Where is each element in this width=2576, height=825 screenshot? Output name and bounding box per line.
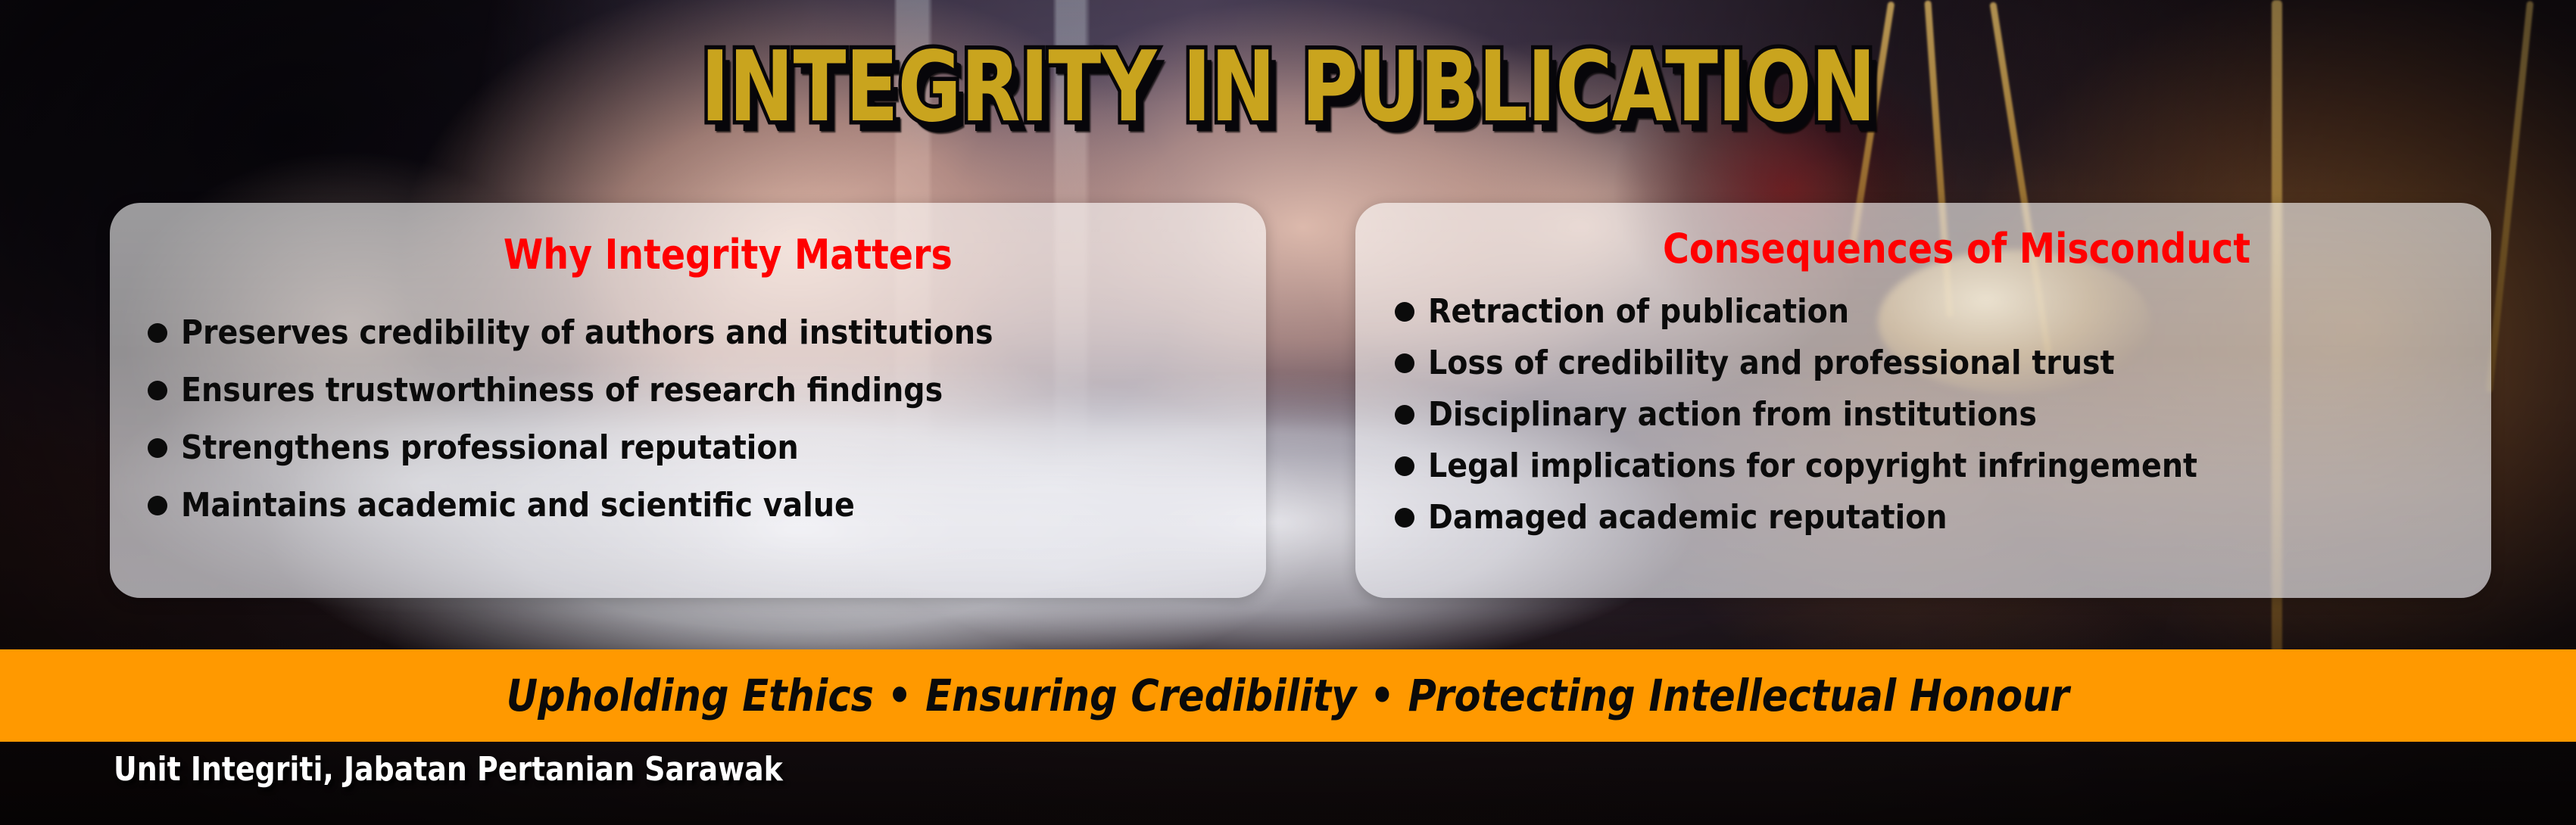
list-item: Disciplinary action from institutions [1395, 389, 2491, 441]
list-item: Damaged academic reputation [1395, 492, 2491, 543]
list-item-label: Disciplinary action from institutions [1428, 398, 2037, 431]
panel-right-bullet-list: Retraction of publication Loss of credib… [1355, 286, 2491, 543]
integrity-in-publication-banner: INTEGRITY IN PUBLICATION Why Integrity M… [0, 0, 2576, 825]
list-item-label: Damaged academic reputation [1428, 501, 1948, 534]
list-item-label: Loss of credibility and professional tru… [1428, 347, 2115, 380]
tagline-bar: Upholding Ethics • Ensuring Credibility … [0, 649, 2576, 742]
list-item-label: Legal implications for copyright infring… [1428, 450, 2197, 483]
list-item-label: Preserves credibility of authors and ins… [181, 316, 993, 350]
list-item: Loss of credibility and professional tru… [1395, 338, 2491, 389]
scale-chain-icon [2486, 1, 2534, 393]
bullet-dot-icon [1395, 302, 1414, 322]
bullet-dot-icon [148, 496, 167, 515]
page-title: INTEGRITY IN PUBLICATION [257, 39, 2319, 136]
list-item: Legal implications for copyright infring… [1395, 441, 2491, 492]
panel-consequences-of-misconduct: Consequences of Misconduct Retraction of… [1355, 203, 2491, 598]
list-item: Preserves credibility of authors and ins… [148, 304, 1266, 362]
bullet-dot-icon [148, 438, 167, 458]
list-item-label: Retraction of publication [1428, 295, 1849, 328]
list-item-label: Strengthens professional reputation [181, 431, 799, 465]
footer-credit: Unit Integriti, Jabatan Pertanian Sarawa… [114, 753, 783, 786]
list-item: Strengthens professional reputation [148, 419, 1266, 477]
bullet-dot-icon [1395, 353, 1414, 373]
bullet-dot-icon [1395, 405, 1414, 425]
bullet-dot-icon [148, 381, 167, 400]
list-item: Maintains academic and scientific value [148, 477, 1266, 534]
panel-why-integrity-matters: Why Integrity Matters Preserves credibil… [110, 203, 1266, 598]
tagline-text: Upholding Ethics • Ensuring Credibility … [507, 674, 2069, 718]
panel-left-bullet-list: Preserves credibility of authors and ins… [110, 304, 1266, 534]
bullet-dot-icon [1395, 508, 1414, 528]
panel-right-heading: Consequences of Misconduct [1424, 229, 2423, 269]
list-item-label: Maintains academic and scientific value [181, 489, 855, 522]
list-item: Ensures trustworthiness of research find… [148, 362, 1266, 419]
bullet-dot-icon [1395, 456, 1414, 476]
list-item: Retraction of publication [1395, 286, 2491, 338]
panel-left-heading: Why Integrity Matters [179, 235, 1197, 276]
list-item-label: Ensures trustworthiness of research find… [181, 374, 943, 407]
bullet-dot-icon [148, 323, 167, 343]
